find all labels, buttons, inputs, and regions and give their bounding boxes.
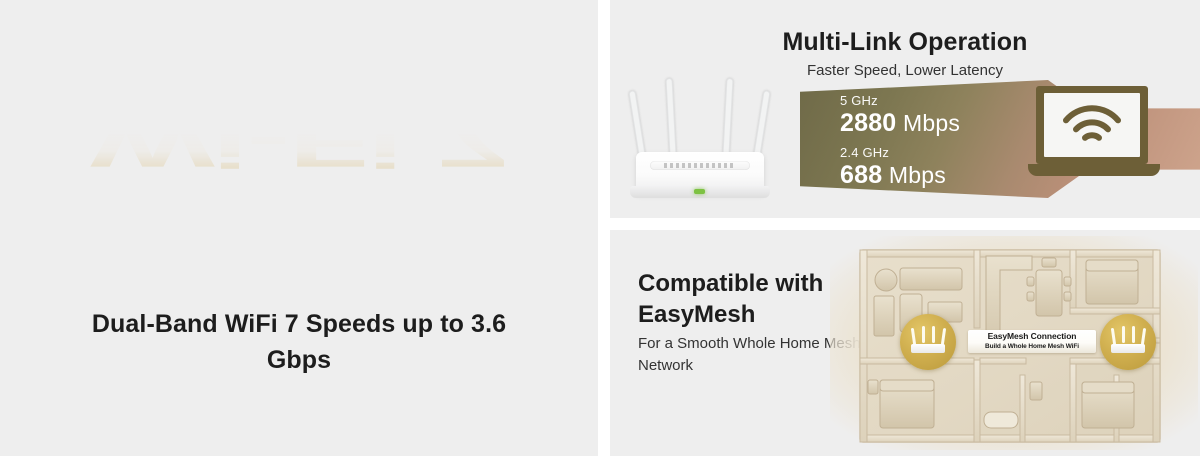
band-5ghz-speed-unit: Mbps: [903, 110, 960, 136]
laptop-wifi-icon: [1028, 86, 1160, 190]
mesh-node-antenna-3: [932, 326, 935, 343]
mesh-node-antenna-4: [1141, 328, 1146, 345]
mesh-node-antenna-2: [922, 326, 925, 343]
router-status-led: [694, 189, 705, 194]
mesh-node-body: [911, 344, 945, 353]
wifi7-wordmark: Wi-Fi 7: [90, 48, 507, 207]
mesh-node-antenna-3: [1132, 326, 1135, 343]
easymesh-banner-line2: Build a Whole Home Mesh WiFi: [968, 342, 1096, 351]
floorplan-furniture-bedroom-3: [1082, 382, 1134, 428]
mesh-node-antenna-2: [1122, 326, 1125, 343]
floorplan-furniture-bedroom-1: [1086, 260, 1138, 304]
laptop-screen: [1044, 93, 1140, 157]
mesh-node-right: [1100, 314, 1156, 370]
router-brand-mark: [664, 163, 736, 168]
wifi7-caption: Dual-Band WiFi 7 Speeds up to 3.6 Gbps: [60, 306, 538, 378]
mesh-node-router-icon: [1109, 328, 1147, 356]
mesh-node-antenna-4: [941, 328, 946, 345]
mesh-node-router-icon: [909, 328, 947, 356]
mesh-node-antenna-1: [1111, 328, 1116, 345]
band-24ghz-speed: 688 Mbps: [840, 161, 946, 190]
band-5ghz-speed-value: 2880: [840, 109, 896, 137]
easymesh-connection-banner: EasyMesh Connection Build a Whole Home M…: [968, 330, 1096, 353]
multi-link-title: Multi-Link Operation: [610, 28, 1200, 57]
mesh-node-antenna-1: [911, 328, 916, 345]
easymesh-banner-line1: EasyMesh Connection: [968, 331, 1096, 342]
band-5ghz-speed: 2880 Mbps: [840, 109, 960, 138]
laptop-lid: [1036, 86, 1148, 164]
band-5ghz-frequency: 5 GHz: [840, 93, 960, 108]
band-24ghz-speed-unit: Mbps: [889, 162, 946, 188]
band-24ghz-frequency: 2.4 GHz: [840, 145, 946, 160]
band-row-5ghz: 5 GHz 2880 Mbps: [840, 93, 960, 138]
panel-wifi7-hero: Wi-Fi 7 Wi-Fi 7 Dual-Band WiFi 7 Speeds …: [0, 0, 598, 456]
panel-easymesh: Compatible with EasyMesh For a Smooth Wh…: [610, 230, 1200, 456]
easymesh-floorplan-illustration: EasyMesh Connection Build a Whole Home M…: [824, 230, 1200, 456]
wifi7-logo: Wi-Fi 7 Wi-Fi 7: [0, 52, 598, 227]
panel-multi-link-operation: Multi-Link Operation Faster Speed, Lower…: [610, 0, 1200, 218]
mesh-node-body: [1111, 344, 1145, 353]
multi-link-illustration: 5 GHz 2880 Mbps 2.4 GHz 688 Mbps Multi-L…: [610, 72, 1200, 218]
easymesh-title-line1: Compatible with: [638, 270, 823, 297]
mesh-node-left: [900, 314, 956, 370]
wifi-signal-icon: [1061, 104, 1123, 148]
laptop-base: [1028, 164, 1160, 176]
easymesh-title-line2: EasyMesh: [638, 301, 755, 328]
product-feature-banner: Wi-Fi 7 Wi-Fi 7 Dual-Band WiFi 7 Speeds …: [0, 0, 1200, 456]
band-row-24ghz: 2.4 GHz 688 Mbps: [840, 145, 946, 190]
band-24ghz-speed-value: 688: [840, 161, 882, 189]
wifi-router-icon: [620, 78, 810, 214]
